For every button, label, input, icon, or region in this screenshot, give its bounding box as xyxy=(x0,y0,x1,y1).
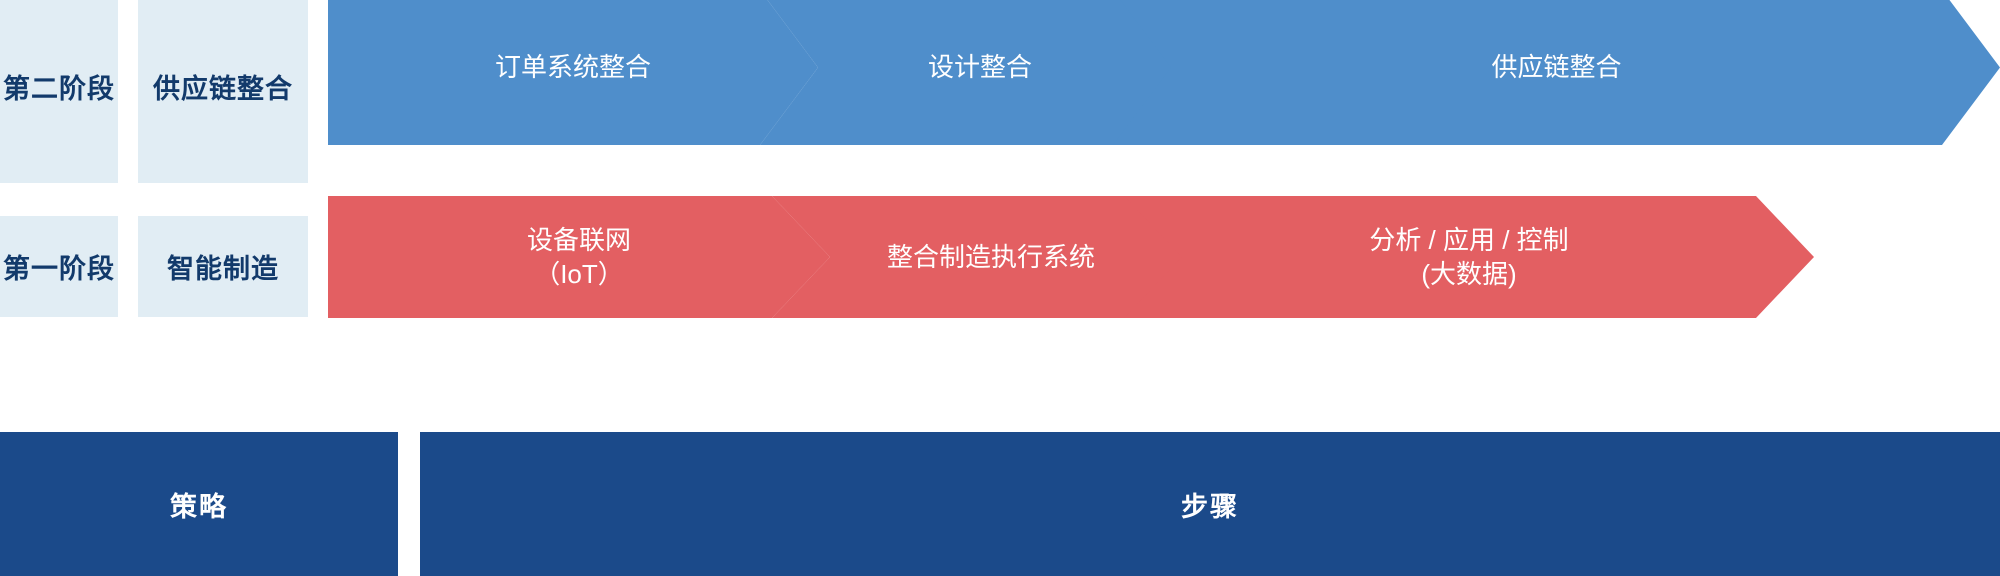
step-chevron-label-row1-1: 订单系统整合 xyxy=(495,50,651,84)
step-chevron-label-row2-3: 分析 / 应用 / 控制 (大数据) xyxy=(1369,223,1568,292)
phase-label-text-row1: 第二阶段 xyxy=(3,67,115,106)
step-chevron-row1-1[interactable]: 订单系统整合 xyxy=(328,0,818,145)
step-chevron-label-row2-1: 设备联网 （IoT） xyxy=(527,223,631,292)
step-chevron-label-row2-2: 整合制造执行系统 xyxy=(887,240,1095,274)
phase-label-cell-row2: 第一阶段 xyxy=(0,216,118,317)
phase-label-cell-row1: 第二阶段 xyxy=(0,0,118,183)
step-chevron-label-row1-2: 设计整合 xyxy=(928,50,1032,84)
step-chevron-label-row1-3: 供应链整合 xyxy=(1491,50,1621,84)
footer-strategy-bar[interactable]: 策略 xyxy=(0,432,398,576)
theme-label-cell-row1: 供应链整合 xyxy=(138,0,308,183)
theme-label-text-row1: 供应链整合 xyxy=(153,67,293,106)
footer-steps-label: 步骤 xyxy=(1181,485,1239,524)
step-chevron-row2-3[interactable]: 分析 / 应用 / 控制 (大数据) xyxy=(1124,196,1814,318)
footer-steps-bar[interactable]: 步骤 xyxy=(420,432,2000,576)
step-chevron-row1-3[interactable]: 供应链整合 xyxy=(1113,0,2000,145)
footer-strategy-label: 策略 xyxy=(170,485,228,524)
theme-label-cell-row2: 智能制造 xyxy=(138,216,308,317)
roadmap-diagram: 第二阶段 供应链整合 订单系统整合 设计整合 供应链整合 第一阶段 智能制造 设… xyxy=(0,0,2000,576)
step-chevron-row2-1[interactable]: 设备联网 （IoT） xyxy=(328,196,830,318)
theme-label-text-row2: 智能制造 xyxy=(167,247,279,286)
phase-label-text-row2: 第一阶段 xyxy=(3,247,115,286)
